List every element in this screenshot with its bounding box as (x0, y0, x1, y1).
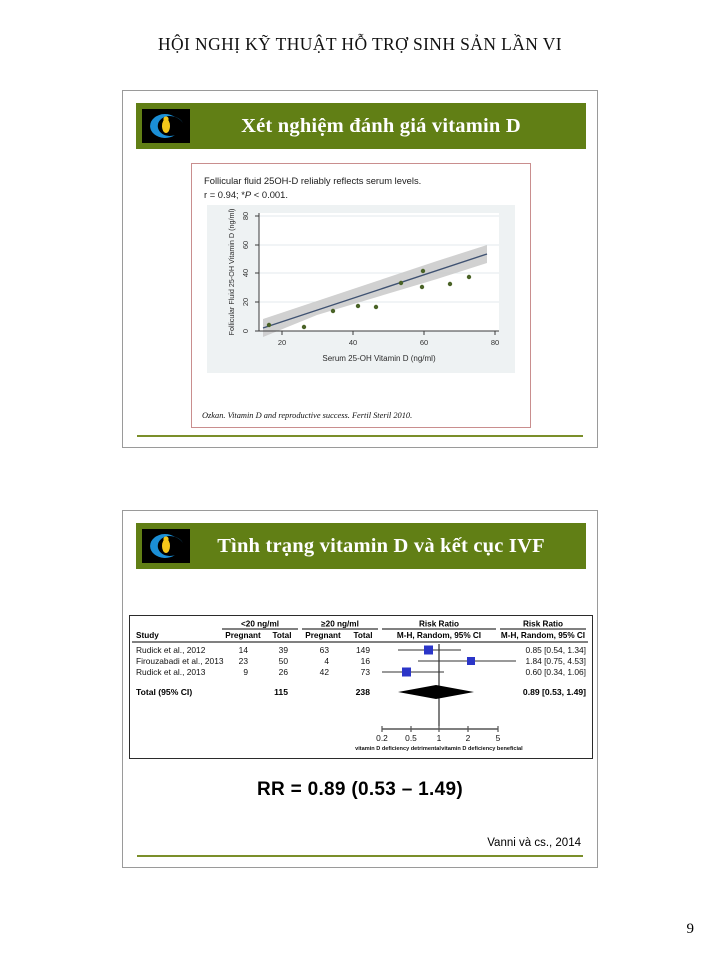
caption-line-2: r = 0.94; *P < 0.001. (204, 188, 520, 202)
svg-text:80: 80 (241, 212, 250, 220)
svg-text:Risk Ratio: Risk Ratio (419, 620, 459, 629)
svg-text:Total (95% CI): Total (95% CI) (136, 687, 192, 697)
svg-text:14: 14 (239, 645, 249, 655)
svg-text:Rudick et al., 2012: Rudick et al., 2012 (136, 645, 206, 655)
slide-1-title-bar: Xét nghiệm đánh giá vitamin D (136, 103, 586, 149)
svg-text:0.2: 0.2 (376, 733, 388, 743)
svg-text:4: 4 (324, 656, 329, 666)
forest-plot-svg: <20 ng/ml ≥20 ng/ml Risk Ratio Risk Rati… (130, 616, 592, 758)
svg-text:60: 60 (241, 241, 250, 249)
svg-text:Study: Study (136, 631, 159, 640)
svg-text:vitamin D deficiency beneficia: vitamin D deficiency beneficial (441, 746, 523, 752)
slide-2-footer-citation: Vanni và cs., 2014 (487, 837, 581, 849)
forest-axis-direction-labels: vitamin D deficiency detrimental vitamin… (355, 746, 523, 752)
svg-text:63: 63 (320, 645, 330, 655)
svg-text:0: 0 (241, 329, 250, 333)
figure-source-citation: Ozkan. Vitamin D and reproductive succes… (202, 411, 412, 420)
slide-2-title: Tình trạng vitamin D và kết cục IVF (190, 535, 586, 558)
svg-text:16: 16 (361, 656, 371, 666)
slide-1-bottom-rule (137, 435, 583, 437)
slide-vitamin-d-ivf-outcome: Tình trạng vitamin D và kết cục IVF <20 … (122, 510, 598, 868)
svg-text:73: 73 (361, 667, 371, 677)
page-title: HỘI NGHỊ KỸ THUẬT HỖ TRỢ SINH SẢN LẦN VI (0, 34, 720, 55)
svg-text:40: 40 (349, 338, 357, 347)
svg-text:60: 60 (420, 338, 428, 347)
slide-vitamin-d-test: Xét nghiệm đánh giá vitamin D Follicular… (122, 90, 598, 448)
svg-text:0.85 [0.54, 1.34]: 0.85 [0.54, 1.34] (525, 645, 586, 655)
svg-text:Pregnant: Pregnant (225, 631, 261, 640)
svg-text:9: 9 (243, 667, 248, 677)
effect-marker (467, 657, 475, 665)
svg-text:5: 5 (496, 733, 501, 743)
page-number: 9 (687, 921, 695, 938)
svg-text:Firouzabadi et al., 2013: Firouzabadi et al., 2013 (136, 656, 224, 666)
slide-2-title-bar: Tình trạng vitamin D và kết cục IVF (136, 523, 586, 569)
svg-text:40: 40 (241, 269, 250, 277)
svg-text:Pregnant: Pregnant (305, 631, 341, 640)
x-axis-label: Serum 25-OH Vitamin D (ng/ml) (322, 354, 436, 363)
svg-text:Total: Total (354, 631, 373, 640)
figure-frame-scatter: Follicular fluid 25OH-D reliably reflect… (191, 163, 531, 428)
caption-line-1: Follicular fluid 25OH-D reliably reflect… (204, 174, 520, 188)
svg-text:1: 1 (437, 733, 442, 743)
svg-text:42: 42 (320, 667, 330, 677)
figure-caption: Follicular fluid 25OH-D reliably reflect… (204, 174, 520, 201)
y-axis-label: Follicular Fluid 25-OH Vitamin D (ng/ml) (227, 209, 236, 336)
svg-text:vitamin D deficiency detriment: vitamin D deficiency detrimental (355, 746, 441, 752)
svg-text:Rudick et al., 2013: Rudick et al., 2013 (136, 667, 206, 677)
slide-1-title: Xét nghiệm đánh giá vitamin D (190, 115, 586, 138)
forest-plot: <20 ng/ml ≥20 ng/ml Risk Ratio Risk Rati… (129, 615, 593, 759)
svg-text:115: 115 (274, 687, 288, 697)
slide-2-bottom-rule (137, 855, 583, 857)
svg-text:238: 238 (356, 687, 371, 697)
conference-logo-icon (142, 109, 190, 143)
svg-text:0.89 [0.53, 1.49]: 0.89 [0.53, 1.49] (523, 687, 586, 697)
svg-text:0.60 [0.34, 1.06]: 0.60 [0.34, 1.06] (525, 667, 586, 677)
rr-summary-text: RR = 0.89 (0.53 – 1.49) (123, 779, 597, 801)
svg-text:20: 20 (241, 298, 250, 306)
caption-r-value: r = 0.94; (204, 189, 241, 200)
svg-text:M-H, Random, 95% CI: M-H, Random, 95% CI (397, 631, 481, 640)
svg-text:1.84 [0.75, 4.53]: 1.84 [0.75, 4.53] (525, 656, 586, 666)
svg-text:39: 39 (279, 645, 289, 655)
svg-text:149: 149 (356, 645, 370, 655)
scatter-svg: 80 60 40 20 0 20 40 60 80 (207, 205, 515, 373)
svg-text:<20 ng/ml: <20 ng/ml (241, 620, 279, 629)
svg-text:Risk Ratio: Risk Ratio (523, 620, 563, 629)
svg-text:≥20 ng/ml: ≥20 ng/ml (321, 620, 359, 629)
svg-text:26: 26 (279, 667, 289, 677)
svg-text:2: 2 (466, 733, 471, 743)
svg-text:23: 23 (239, 656, 249, 666)
svg-text:0.5: 0.5 (405, 733, 417, 743)
svg-text:80: 80 (491, 338, 499, 347)
svg-text:20: 20 (278, 338, 286, 347)
svg-text:Total: Total (273, 631, 292, 640)
scatter-chart: 80 60 40 20 0 20 40 60 80 (207, 205, 515, 373)
svg-text:50: 50 (279, 656, 289, 666)
effect-marker (402, 668, 411, 677)
caption-p-value: < 0.001. (251, 189, 288, 200)
conference-logo-icon (142, 529, 190, 563)
svg-text:M-H, Random, 95% CI: M-H, Random, 95% CI (501, 631, 585, 640)
effect-marker (424, 646, 433, 655)
